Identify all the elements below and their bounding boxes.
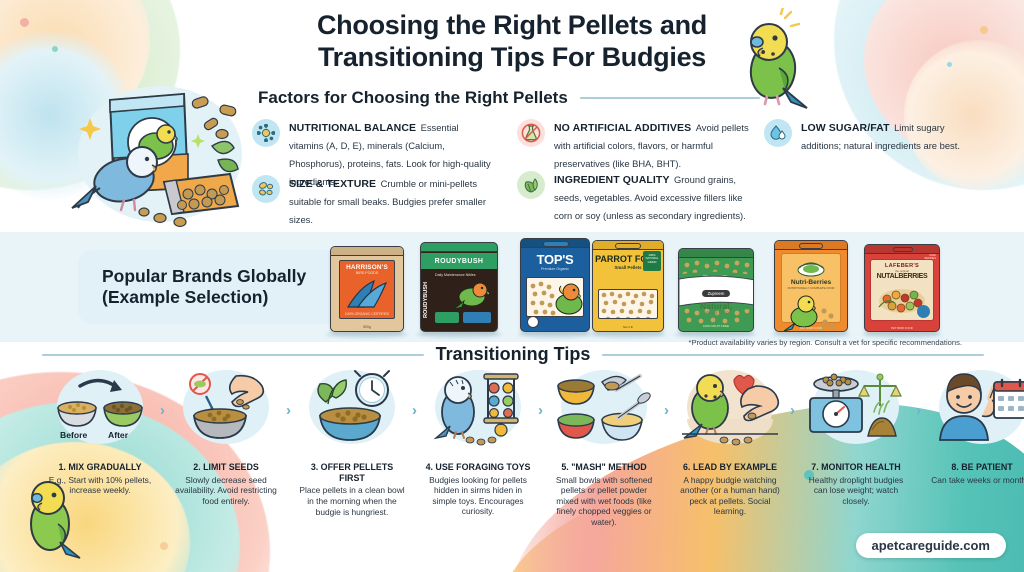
step-item-8-be-patient: 8. BE PATIENT Can take weeks or months!: [928, 366, 1024, 485]
molecule-icon: [252, 119, 280, 147]
step-item-7-monitor-health: 7. MONITOR HEALTH Healthy droplight budg…: [802, 366, 910, 506]
step-body: Budgies looking for pellets hidden in si…: [424, 475, 532, 517]
brand-name: NUTALBERRIES: [871, 273, 933, 280]
pellets-icon: [252, 175, 280, 203]
brand-sub: Daily Maintenance Nibles: [435, 273, 491, 278]
step-body: Small bowls with softened pellets or pel…: [550, 475, 658, 528]
factor-item-ingredient-quality: INGREDIENT QUALITY Ground grains, seeds,…: [517, 170, 762, 224]
factors-list: NUTRITIONAL BALANCE Essential vitamins (…: [252, 118, 1022, 228]
foraging-toy-icon: [424, 366, 532, 448]
brand-name: ROUDYBUSH: [435, 258, 484, 265]
step-title: 4. USE FORAGING TOYS: [424, 462, 532, 473]
factor-item-low-sugar-fat: LOW SUGAR/FAT Limit sugary additions; na…: [764, 118, 979, 154]
step-title: 7. MONITOR HEALTH: [802, 462, 910, 473]
site-watermark[interactable]: apetcareguide.com: [856, 533, 1007, 558]
chevron-right-icon: ›: [664, 402, 669, 419]
heading-rule: [580, 97, 760, 99]
factor-title: INGREDIENT QUALITY: [554, 174, 670, 186]
two-bowls-icon: Before After: [46, 366, 154, 448]
step-item-1-mix-gradually: Before After 1. MIX GRADUALLY E.g., Star…: [46, 366, 154, 496]
brand-name: TOP'S: [521, 252, 589, 267]
step-title: 3. OFFER PELLETS FIRST: [298, 462, 406, 483]
heading-rule-left: [42, 354, 424, 356]
leaf-icon: [517, 171, 545, 199]
heading-rule-right: [602, 354, 984, 356]
water-drop-icon: [764, 119, 792, 147]
brands-heading-line-1: Popular Brands Globally: [102, 266, 306, 287]
step-body: Healthy droplight budgies can lose weigh…: [802, 475, 910, 507]
chevron-right-icon: ›: [412, 402, 417, 419]
brand-bag-lafebers-nutriberries[interactable]: OMNIBERRIES LAFEBER'S the original NUTAL…: [864, 244, 940, 332]
step-body: Slowly decrease seed availability. Avoid…: [172, 475, 280, 507]
brands-heading-line-2: (Example Selection): [102, 287, 306, 308]
chevron-right-icon: ›: [916, 402, 921, 419]
factors-section-heading: Factors for Choosing the Right Pellets: [258, 88, 760, 108]
chevron-right-icon: ›: [160, 402, 165, 419]
step-title: 8. BE PATIENT: [928, 462, 1024, 473]
brand-name: HARRISON'S: [340, 264, 394, 271]
brand-mark: Zupreem: [702, 290, 731, 297]
brand-bag-tops[interactable]: TOP'S Premium Organic: [520, 238, 590, 332]
brand-sub: Premium Organic: [521, 267, 589, 271]
brand-sub: BIRD FOODS: [340, 271, 394, 275]
brands-heading-pill: Popular Brands Globally (Example Selecti…: [78, 250, 346, 324]
factor-title: NO ARTIFICIAL ADDITIVES: [554, 122, 691, 134]
clock-bowl-icon: [298, 366, 406, 448]
brand-bag-roudybush[interactable]: ROUDYBUSH Daily Maintenance Nibles ROUDY…: [420, 242, 498, 332]
factor-item-no-artificial-additives: NO ARTIFICIAL ADDITIVES Avoid pellets wi…: [517, 118, 762, 172]
step-item-3-offer-pellets-first: 3. OFFER PELLETS FIRST Place pellets in …: [298, 366, 406, 517]
chevron-right-icon: ›: [538, 402, 543, 419]
step-title: 5. "MASH" METHOD: [550, 462, 658, 473]
step-body: E.g., Start with 10% pellets, increase w…: [46, 475, 154, 496]
step-body: Place pellets in a clean bowl in the mor…: [298, 485, 406, 517]
no-flask-icon: [517, 119, 545, 147]
step-title: 2. LIMIT SEEDS: [172, 462, 280, 473]
step-item-6-lead-by-example: 6. LEAD BY EXAMPLE A happy budgie watchi…: [676, 366, 784, 517]
factors-heading-text: Factors for Choosing the Right Pellets: [258, 88, 568, 108]
person-calendar-icon: [928, 366, 1024, 448]
step-title: 6. LEAD BY EXAMPLE: [676, 462, 784, 473]
mash-bowls-icon: [550, 366, 658, 448]
before-label: Before: [60, 430, 87, 440]
factor-item-size-texture: SIZE & TEXTURE Crumble or mini-pellets s…: [252, 174, 492, 228]
factor-title: NUTRITIONAL BALANCE: [289, 122, 416, 134]
chevron-right-icon: ›: [286, 402, 291, 419]
hand-no-seed-icon: [172, 366, 280, 448]
factor-title: SIZE & TEXTURE: [289, 178, 376, 190]
step-body: A happy budgie watching another (or a hu…: [676, 475, 784, 517]
brand-bag-harrisons[interactable]: HARRISON'S BIRD FOODS 100% ORGANIC CERTI…: [330, 246, 404, 332]
title-line-1: Choosing the Right Pellets and: [0, 10, 1024, 42]
step-body: Can take weeks or months!: [928, 475, 1024, 486]
brand-bag-nutri-berries[interactable]: Nutri-Berries NUTRITIONALLY COMPLETE FOO…: [774, 240, 848, 332]
brand-bag-parrot-food[interactable]: 100%NATURALGRAIN PARROT FOOD Small Pelle…: [592, 240, 664, 332]
brand-bags-row: HARRISON'S BIRD FOODS 100% ORGANIC CERTI…: [322, 240, 942, 338]
brand-sub: small size: [679, 311, 753, 317]
after-label: After: [108, 430, 128, 440]
tips-section-heading: Transitioning Tips: [42, 344, 984, 365]
budgie-hand-heart-icon: [676, 366, 784, 448]
factor-title: LOW SUGAR/FAT: [801, 122, 890, 134]
step-item-4-use-foraging-toys: 4. USE FORAGING TOYS Budgies looking for…: [424, 366, 532, 517]
tips-heading-text: Transitioning Tips: [436, 344, 591, 365]
brand-name: Natural,: [679, 301, 753, 311]
scale-icon: [802, 366, 910, 448]
budgie-food-bag-illustration: [52, 62, 252, 232]
brand-bag-zupreem-natural[interactable]: Zupreem Natural, small size 100% FRUIT F…: [678, 248, 754, 332]
brand-name: Nutri-Berries: [782, 279, 840, 286]
step-title: 1. MIX GRADUALLY: [46, 462, 154, 473]
transitioning-steps: Before After 1. MIX GRADUALLY E.g., Star…: [20, 366, 1004, 538]
step-item-2-limit-seeds: 2. LIMIT SEEDS Slowly decrease seed avai…: [172, 366, 280, 506]
step-item-5-mash-method: 5. "MASH" METHOD Small bowls with soften…: [550, 366, 658, 528]
chevron-right-icon: ›: [790, 402, 795, 419]
